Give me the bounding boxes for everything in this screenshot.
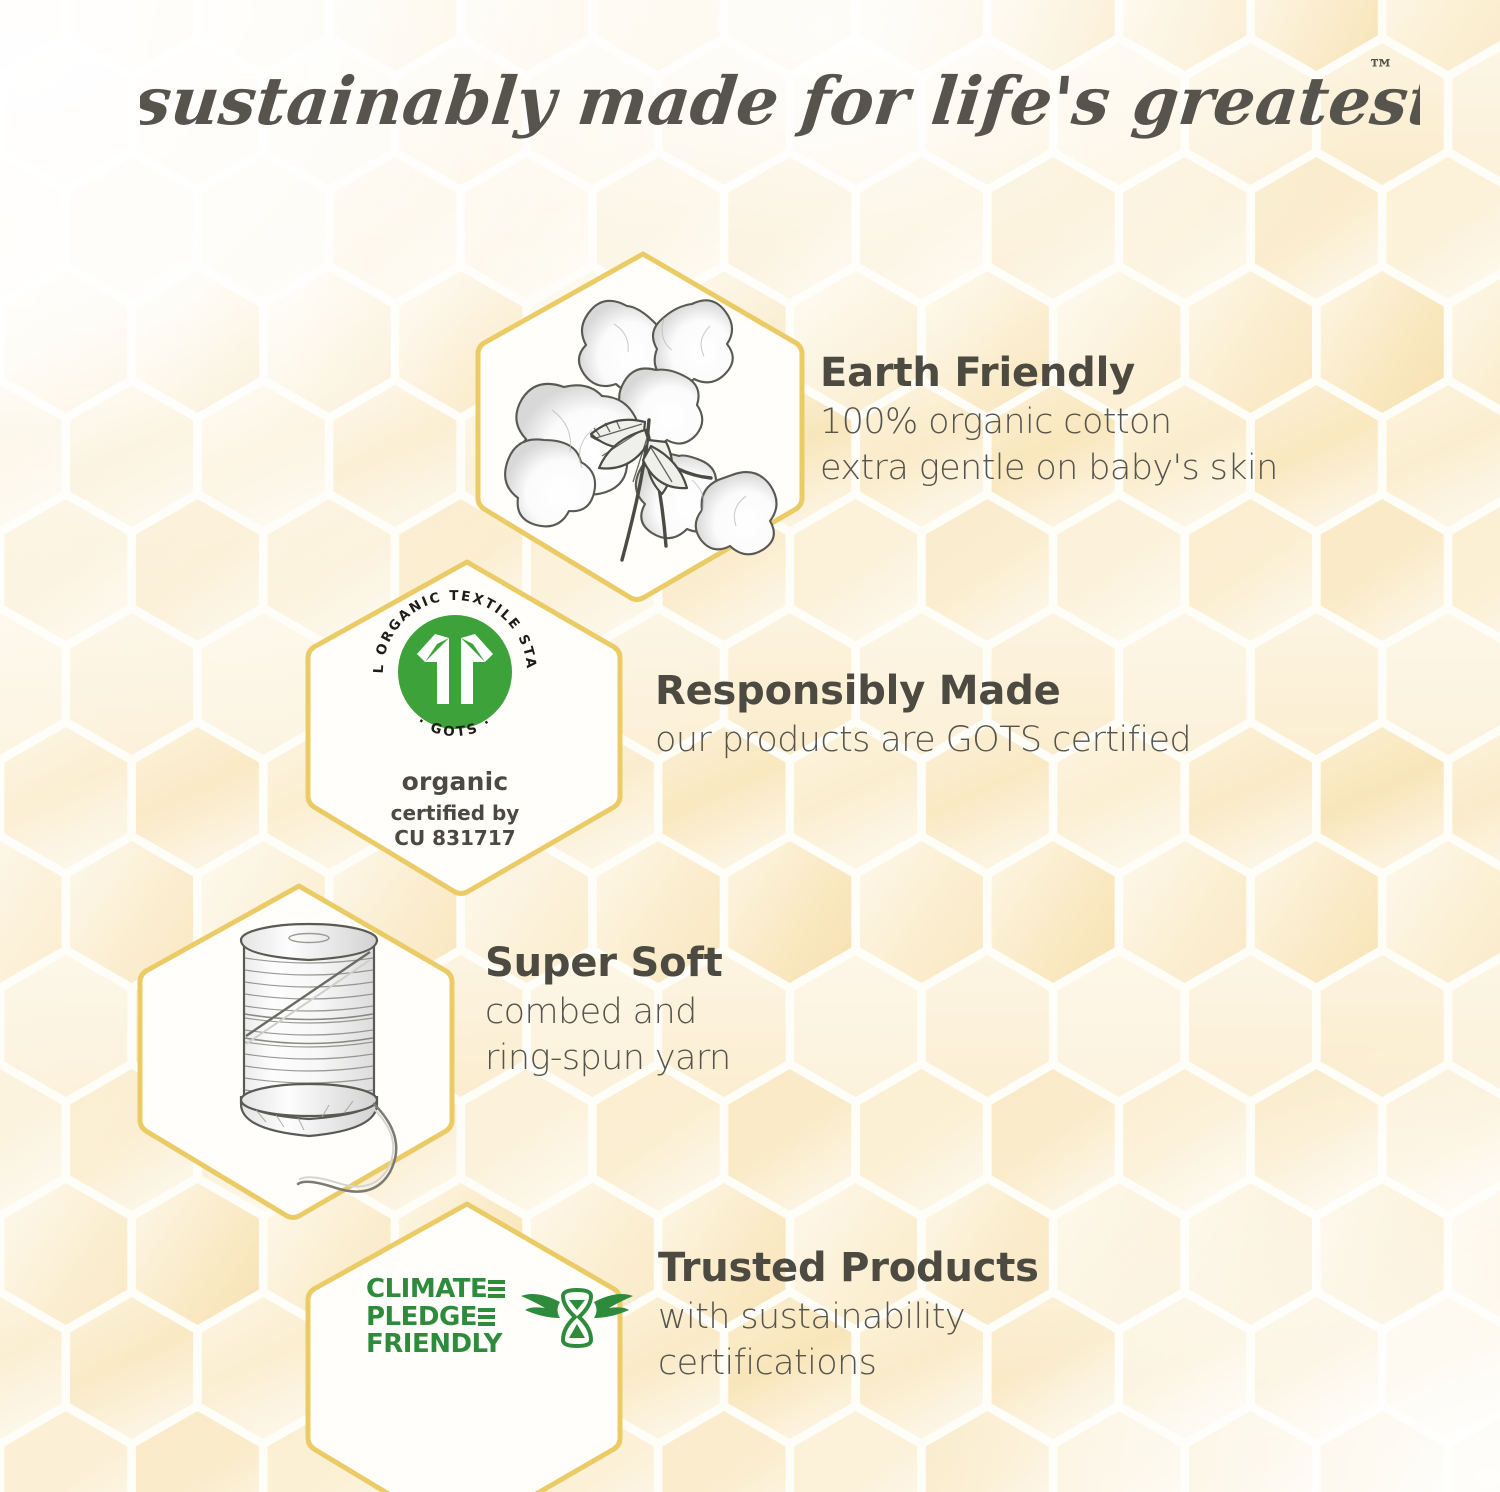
honeycomb-cell xyxy=(1123,841,1246,983)
honeycomb-cell xyxy=(1123,1297,1246,1439)
honeycomb-cell xyxy=(860,841,983,983)
feature-line: with sustainability xyxy=(658,1295,1039,1341)
honeycomb-cell xyxy=(1255,841,1378,983)
honeycomb-cell xyxy=(1321,271,1444,413)
honeycomb-cell xyxy=(0,841,62,983)
honeycomb-cell xyxy=(0,613,62,755)
honeycomb-cell xyxy=(1387,385,1500,527)
honeycomb-cell xyxy=(728,1069,851,1211)
honeycomb-cell xyxy=(1057,499,1180,641)
gots-certification-icon: GLOBAL ORGANIC TEXTILE STANDARD · GOTS ·… xyxy=(325,576,585,851)
honeycomb-cell xyxy=(70,385,193,527)
honeycomb-cell xyxy=(136,271,259,413)
tagline: sustainably made for life's greatest joy… xyxy=(140,46,1420,156)
climate-pledge-friendly-icon: CLIMATE PLEDGE FRIENDLY xyxy=(366,1272,635,1362)
honeycomb-cell xyxy=(926,955,1049,1097)
feature-line: ring-spun yarn xyxy=(485,1036,731,1082)
honeycomb-cell xyxy=(4,727,127,869)
honeycomb-cell xyxy=(1057,955,1180,1097)
winged-hourglass-icon xyxy=(519,1272,635,1362)
honeycomb-cell xyxy=(728,841,851,983)
honeycomb-cell xyxy=(860,157,983,299)
gots-seal-icon: GLOBAL ORGANIC TEXTILE STANDARD · GOTS · xyxy=(325,576,585,756)
feature-text-trusted-products: Trusted Products with sustainability cer… xyxy=(658,1245,1039,1386)
honeycomb-cell xyxy=(597,1069,720,1211)
honeycomb-cell xyxy=(0,1069,62,1211)
feature-title: Earth Friendly xyxy=(820,350,1278,396)
thread-spool-sketch-icon xyxy=(184,888,434,1218)
honeycomb-cell xyxy=(70,613,193,755)
feature-hexagon-super-soft xyxy=(140,880,458,1222)
honeycomb-cell xyxy=(333,385,456,527)
gots-certified-by-label: certified by xyxy=(325,801,585,826)
honeycomb-cell xyxy=(4,1183,127,1325)
honeycomb-cell xyxy=(992,1069,1115,1211)
honeycomb-cell xyxy=(1255,1069,1378,1211)
honeycomb-cell xyxy=(1189,1183,1312,1325)
honeycomb-cell xyxy=(465,1069,588,1211)
honeycomb-cell xyxy=(1387,1297,1500,1439)
honeycomb-cell xyxy=(0,1297,62,1439)
honeycomb-cell xyxy=(1123,1069,1246,1211)
honeycomb-cell xyxy=(1057,1183,1180,1325)
honeycomb-cell xyxy=(70,157,193,299)
feature-text-earth-friendly: Earth Friendly 100% organic cotton extra… xyxy=(820,350,1278,491)
cpf-bar-stack xyxy=(478,1308,495,1326)
honeycomb-cell xyxy=(1387,613,1500,755)
honeycomb-cell xyxy=(268,271,391,413)
honeycomb-cell xyxy=(1321,727,1444,869)
honeycomb-cell xyxy=(1255,157,1378,299)
feature-title: Responsibly Made xyxy=(655,668,1191,714)
honeycomb-cell xyxy=(136,727,259,869)
cotton-branch-sketch-icon xyxy=(496,270,796,590)
honeycomb-cell xyxy=(4,43,127,185)
honeycomb-cell xyxy=(0,385,62,527)
gots-organic-label: organic xyxy=(325,767,585,796)
feature-text-super-soft: Super Soft combed and ring-spun yarn xyxy=(485,940,731,1081)
feature-text-responsibly-made: Responsibly Made our products are GOTS c… xyxy=(655,668,1191,764)
honeycomb-cell xyxy=(1387,841,1500,983)
feature-line: extra gentle on baby's skin xyxy=(820,446,1278,492)
honeycomb-cell xyxy=(1321,1183,1444,1325)
honeycomb-cell xyxy=(1255,1297,1378,1439)
honeycomb-cell xyxy=(794,955,917,1097)
honeycomb-cell xyxy=(0,157,62,299)
cpf-line-1: CLIMATE xyxy=(366,1277,487,1302)
honeycomb-cell xyxy=(202,385,325,527)
feature-line: 100% organic cotton xyxy=(820,400,1278,446)
feature-hexagon-earth-friendly xyxy=(478,248,808,604)
climate-pledge-wordmark: CLIMATE PLEDGE FRIENDLY xyxy=(366,1277,505,1358)
honeycomb-cell xyxy=(1321,499,1444,641)
honeycomb-cell xyxy=(860,1069,983,1211)
feature-line: combed and xyxy=(485,990,731,1036)
honeycomb-cell xyxy=(1321,955,1444,1097)
honeycomb-cell xyxy=(1123,157,1246,299)
tagline-text: sustainably made for life's greatest joy xyxy=(140,62,1420,140)
cpf-line-3: FRIENDLY xyxy=(366,1332,502,1357)
cpf-line-2: PLEDGE xyxy=(366,1305,477,1330)
gots-certifier-code: CU 831717 xyxy=(325,826,585,851)
cpf-bar-stack xyxy=(488,1280,505,1298)
feature-title: Super Soft xyxy=(485,940,731,986)
honeycomb-cell xyxy=(992,841,1115,983)
infographic-root: sustainably made for life's greatest joy… xyxy=(0,0,1500,1492)
honeycomb-cell xyxy=(4,499,127,641)
honeycomb-cell xyxy=(333,157,456,299)
honeycomb-cell xyxy=(4,955,127,1097)
honeycomb-cell xyxy=(4,271,127,413)
honeycomb-cell xyxy=(1189,499,1312,641)
honeycomb-cell xyxy=(992,157,1115,299)
honeycomb-cell xyxy=(70,1297,193,1439)
honeycomb-cell xyxy=(794,499,917,641)
honeycomb-cell xyxy=(926,499,1049,641)
honeycomb-cell xyxy=(1255,613,1378,755)
honeycomb-cell xyxy=(1189,727,1312,869)
honeycomb-cell xyxy=(136,499,259,641)
feature-line: certifications xyxy=(658,1341,1039,1387)
trademark-symbol: ™ xyxy=(1368,55,1394,85)
honeycomb-cell xyxy=(1189,955,1312,1097)
feature-title: Trusted Products xyxy=(658,1245,1039,1291)
honeycomb-cell xyxy=(1387,157,1500,299)
gots-green-circle xyxy=(398,615,512,729)
feature-line: our products are GOTS certified xyxy=(655,718,1191,764)
honeycomb-cell xyxy=(202,157,325,299)
honeycomb-cell xyxy=(1387,1069,1500,1211)
